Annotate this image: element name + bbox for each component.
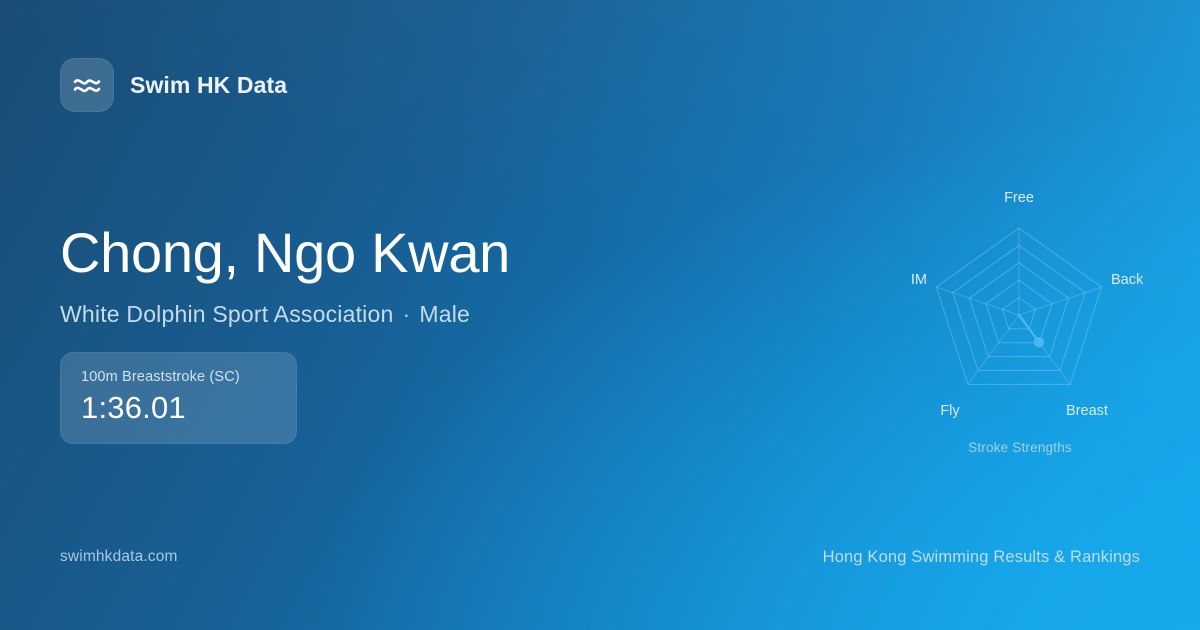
- radar-point-breast: [1034, 337, 1044, 347]
- meta-separator: ·: [393, 301, 419, 327]
- radar-caption: Stroke Strengths: [860, 440, 1180, 455]
- hero-block: Chong, Ngo Kwan White Dolphin Sport Asso…: [60, 222, 820, 328]
- radar-label-free: Free: [1004, 190, 1034, 206]
- radar-label-fly: Fly: [940, 403, 960, 419]
- brand-name: Swim HK Data: [130, 72, 287, 99]
- athlete-gender: Male: [419, 301, 470, 327]
- footer-site-url[interactable]: swimhkdata.com: [60, 548, 178, 566]
- event-label: 100m Breaststroke (SC): [81, 369, 276, 385]
- footer-tagline: Hong Kong Swimming Results & Rankings: [823, 548, 1140, 567]
- stroke-strengths-radar: Free Back Breast Fly IM Stroke Strengths: [860, 175, 1180, 465]
- radar-label-breast: Breast: [1066, 403, 1108, 419]
- time-value: 1:36.01: [81, 392, 276, 425]
- radar-label-back: Back: [1111, 272, 1144, 288]
- athlete-club: White Dolphin Sport Association: [60, 301, 393, 327]
- radar-svg: Free Back Breast Fly IM: [860, 175, 1180, 465]
- brand-lockup[interactable]: Swim HK Data: [60, 58, 287, 112]
- radar-axis-spokes: [936, 228, 1101, 384]
- radar-label-im: IM: [911, 272, 927, 288]
- page-title: Chong, Ngo Kwan: [60, 222, 820, 285]
- wave-icon: [60, 58, 114, 112]
- athlete-meta: White Dolphin Sport Association·Male: [60, 301, 820, 328]
- og-card-root: Swim HK Data Chong, Ngo Kwan White Dolph…: [0, 0, 1200, 630]
- best-time-card: 100m Breaststroke (SC) 1:36.01: [60, 352, 297, 444]
